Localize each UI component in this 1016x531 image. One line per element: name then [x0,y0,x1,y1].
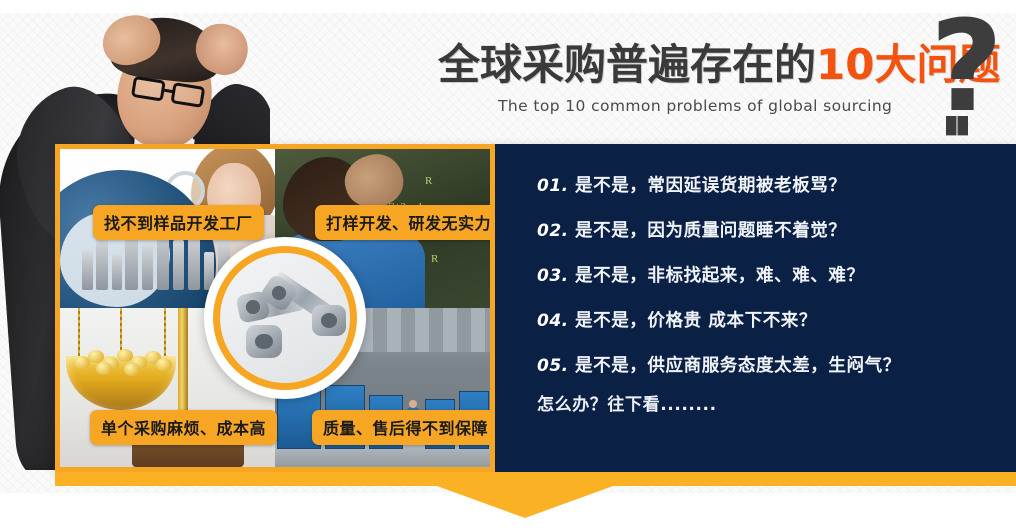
list-item-number: 02. [537,221,575,241]
poster-canvas: 全球采购普遍存在的10大问题 The top 10 common problem… [0,0,1016,531]
question-mark-dot [946,116,968,136]
collage-tag-4: 质量、售后得不到保障 [312,410,495,445]
hex-nut-1 [312,305,346,336]
main-panel: x−b R ∫ƒ(x)dx N²+2x−1 aL R Σ y=mx θ=πr² [55,144,1016,472]
header: 全球采购普遍存在的10大问题 The top 10 common problem… [430,36,1016,136]
list-item-text: 是不是，供应商服务态度太差，生闷气？ [575,356,901,376]
problem-list-panel: 01.是不是，常因延误货期被老板骂？ 02.是不是，因为质量问题睡不着觉？ 03… [495,144,1016,472]
collage-tag-1: 找不到样品开发工厂 [93,205,264,240]
question-mark-graphic: ? [930,18,1016,136]
list-item-number: 05. [537,356,575,376]
list-item: 04.是不是，价格贵 成本下不来？ [537,307,817,332]
list-item-text: 是不是，常因延误货期被老板骂？ [575,176,847,196]
list-item: 03.是不是，非标找起来，难、难、难？ [537,262,865,287]
hex-nut-2 [246,325,282,358]
badge-ring [213,246,357,390]
list-item-number: 01. [537,176,575,196]
collage-tag-2: 打样开发、研发无实力 [315,205,495,240]
list-item-number: 03. [537,266,575,286]
list-item-text: 是不是，价格贵 成本下不来？ [575,311,817,331]
list-item-text: 是不是，因为质量问题睡不着觉？ [575,221,847,241]
list-item: 01.是不是，常因延误货期被老板骂？ [537,172,847,197]
question-mark-icon: ? [930,4,1003,130]
subtitle: The top 10 common problems of global sou… [498,97,892,115]
list-item: 05.是不是，供应商服务态度太差，生闷气？ [537,352,901,377]
list-footer-text: 怎么办？往下看........ [537,390,717,415]
footer-bar [55,472,1016,486]
page-title: 全球采购普遍存在的10大问题 [438,44,1000,86]
gold-nuggets [72,348,172,372]
center-badge [204,237,366,399]
title-dark-part: 全球采购普遍存在的 [438,40,816,89]
image-collage: x−b R ∫ƒ(x)dx N²+2x−1 aL R Σ y=mx θ=πr² [55,144,495,472]
list-item-text: 是不是，非标找起来，难、难、难？ [575,266,865,286]
list-item: 02.是不是，因为质量问题睡不着觉？ [537,217,847,242]
list-item-number: 04. [537,311,575,331]
collage-tag-3: 单个采购麻烦、成本高 [90,410,277,445]
